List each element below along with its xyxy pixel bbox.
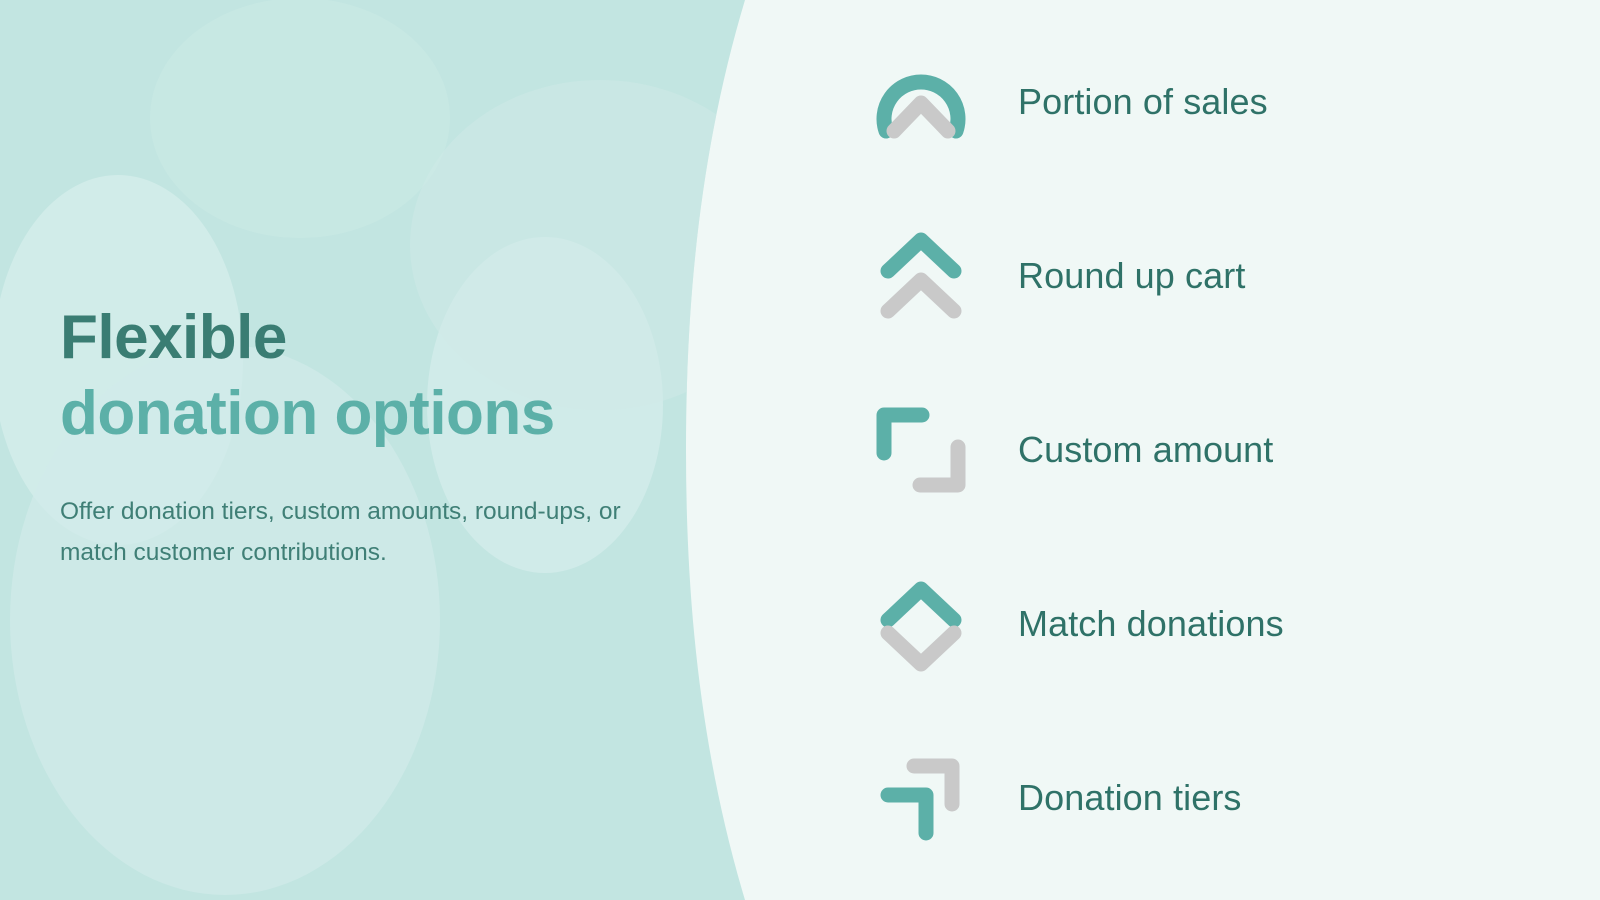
chevron-up-down-icon: [872, 575, 970, 673]
feature-list: Portion of sales Round up cart Custom am…: [860, 0, 1560, 900]
feature-label: Portion of sales: [1018, 81, 1268, 123]
headline-line-2: donation options: [60, 376, 660, 452]
arc-chevron-up-icon: [872, 53, 970, 151]
feature-label: Round up cart: [1018, 255, 1245, 297]
double-corner-arrow-icon: [872, 749, 970, 847]
corner-brackets-icon: [872, 401, 970, 499]
slide-canvas: Flexible donation options Offer donation…: [0, 0, 1600, 900]
feature-label: Custom amount: [1018, 429, 1273, 471]
feature-label: Donation tiers: [1018, 777, 1242, 819]
hero-text-block: Flexible donation options Offer donation…: [60, 300, 660, 574]
page-title: Flexible donation options: [60, 300, 660, 451]
list-item[interactable]: Donation tiers: [872, 749, 1560, 847]
list-item[interactable]: Round up cart: [872, 227, 1560, 325]
list-item[interactable]: Match donations: [872, 575, 1560, 673]
list-item[interactable]: Portion of sales: [872, 53, 1560, 151]
list-item[interactable]: Custom amount: [872, 401, 1560, 499]
double-chevron-up-icon: [872, 227, 970, 325]
feature-label: Match donations: [1018, 603, 1284, 645]
hero-subcopy: Offer donation tiers, custom amounts, ro…: [60, 491, 650, 573]
headline-line-1: Flexible: [60, 300, 660, 376]
